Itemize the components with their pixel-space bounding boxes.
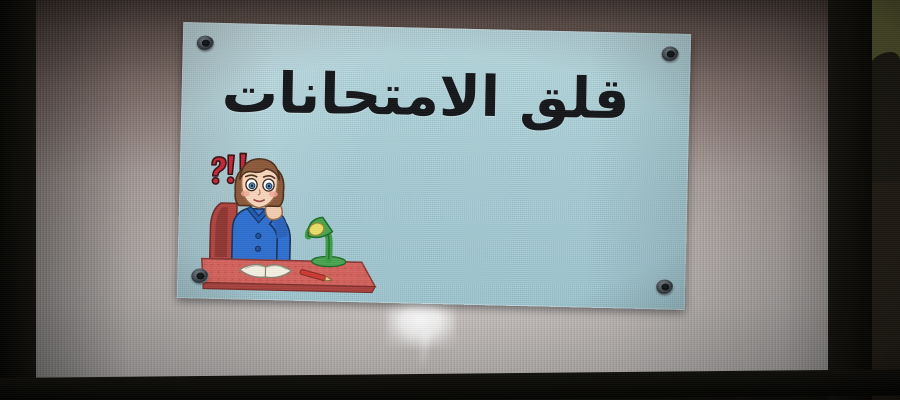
wall-sign[interactable]: قلق الامتحانات (177, 22, 691, 310)
left-dark-band (0, 0, 36, 400)
student-illustration (195, 150, 380, 294)
photo-scene: قلق الامتحانات (0, 0, 900, 400)
right-dark-band (828, 0, 872, 400)
sign-title: قلق الامتحانات (181, 64, 690, 131)
